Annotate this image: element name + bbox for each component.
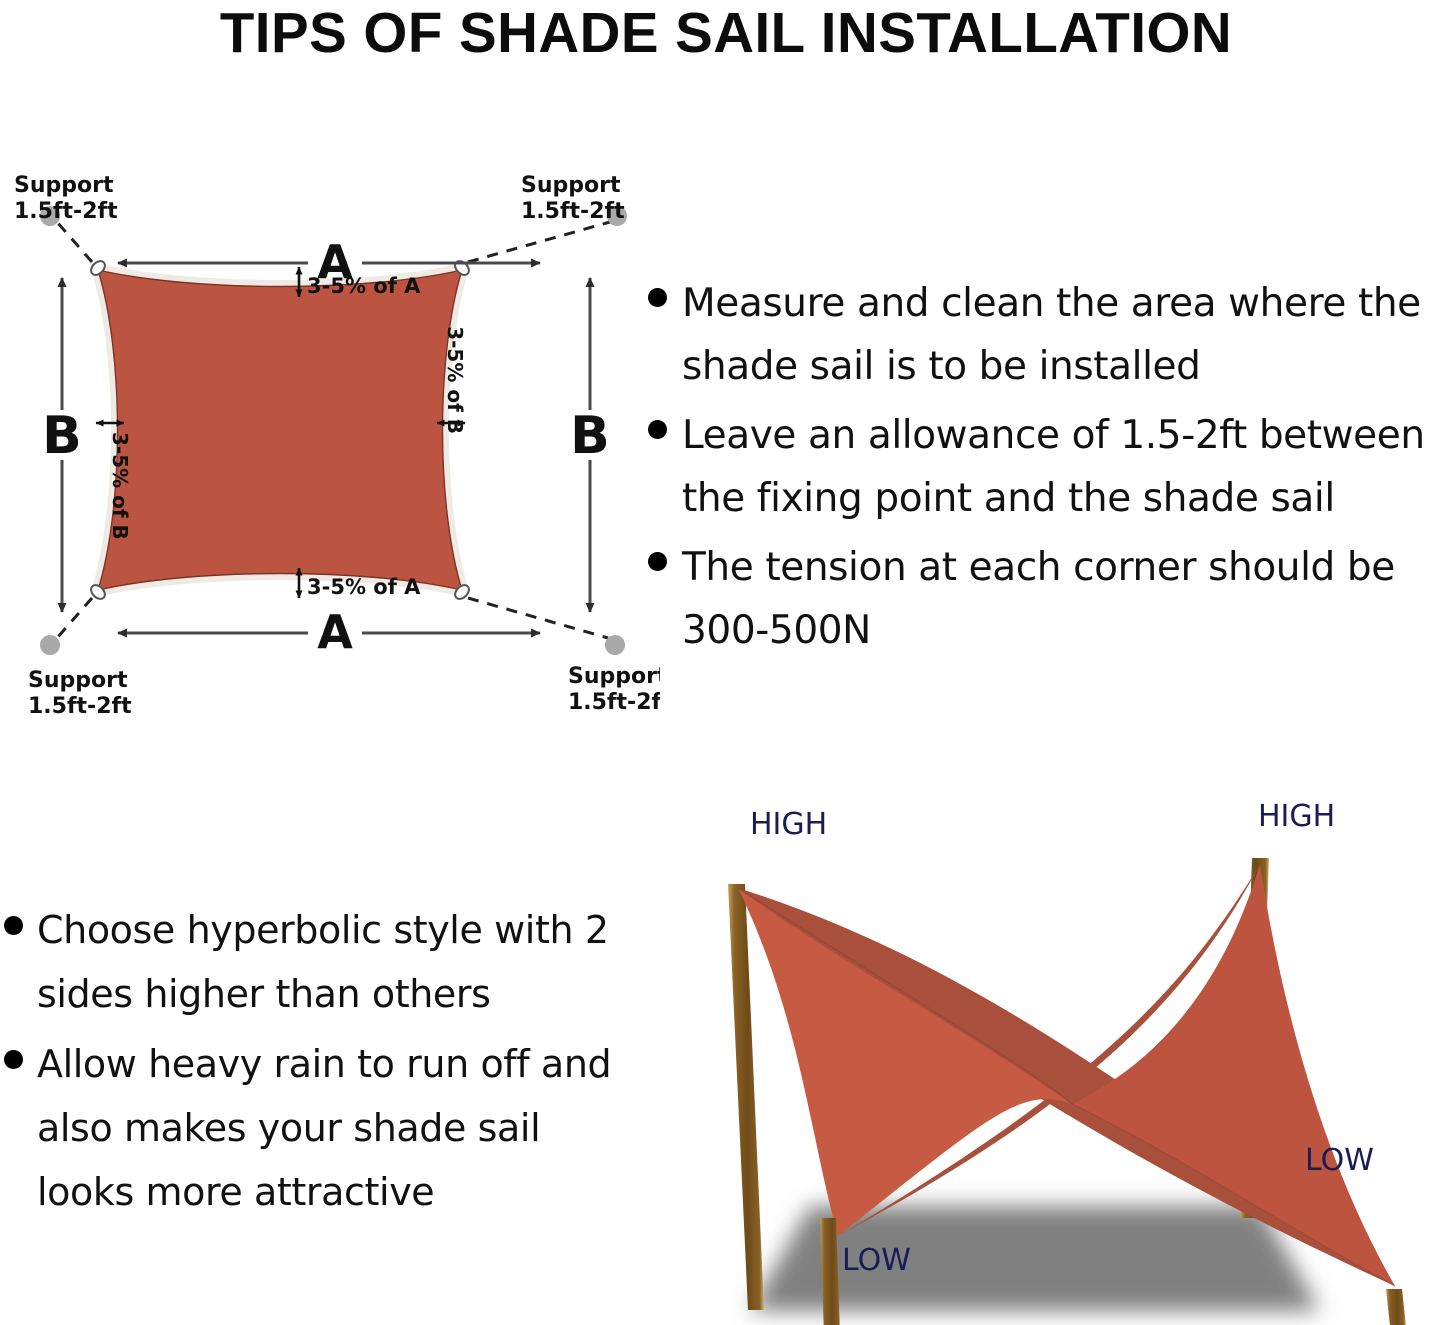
support-label-bottom-right-line1: Support bbox=[568, 664, 660, 689]
bullet-icon bbox=[648, 552, 667, 571]
list-item: Allow heavy rain to run off and also mak… bbox=[4, 1032, 624, 1224]
list-item: Measure and clean the area where the sha… bbox=[648, 272, 1452, 398]
curve-note-a-bottom-label: 3-5% of A bbox=[307, 575, 421, 599]
support-label-top-right-line2: 1.5ft-2ft bbox=[521, 199, 625, 224]
list-item: The tension at each corner should be 300… bbox=[648, 536, 1452, 662]
curve-note-b-left-label: 3-5% of B bbox=[108, 432, 132, 540]
bullet-icon bbox=[4, 1050, 23, 1069]
curve-note-b-left: 3-5% of B bbox=[96, 423, 132, 540]
curve-note-b-right-label: 3-5% of B bbox=[443, 326, 467, 434]
support-label-bottom-left-line2: 1.5ft-2ft bbox=[28, 694, 132, 719]
rectangular-sail-diagram: Support 1.5ft-2ft Support 1.5ft-2ft Supp… bbox=[0, 160, 660, 740]
installation-tips-list: Measure and clean the area where the sha… bbox=[648, 272, 1452, 668]
dimension-b-right-label: B bbox=[570, 406, 610, 466]
bullet-icon bbox=[4, 916, 23, 935]
dimension-a-bottom: A bbox=[118, 605, 540, 659]
support-post-front-right bbox=[1386, 1289, 1406, 1325]
support-label-top-left-line2: 1.5ft-2ft bbox=[14, 199, 118, 224]
dimension-a-bottom-label: A bbox=[317, 605, 353, 659]
label-low-left: LOW bbox=[842, 1243, 911, 1278]
list-item: Choose hyperbolic style with 2 sides hig… bbox=[4, 898, 624, 1026]
support-label-bottom-right-line2: 1.5ft-2ft bbox=[568, 690, 660, 715]
list-item: Leave an allowance of 1.5-2ft between th… bbox=[648, 404, 1452, 530]
dimension-b-left-label: B bbox=[42, 406, 82, 466]
dimension-b-right: B bbox=[570, 278, 610, 612]
support-label-bottom-left-line1: Support bbox=[28, 668, 128, 693]
tip-text: Leave an allowance of 1.5-2ft between th… bbox=[682, 404, 1452, 530]
bullet-icon bbox=[648, 288, 667, 307]
hyperbolic-style-tips-list: Choose hyperbolic style with 2 sides hig… bbox=[4, 898, 624, 1230]
sail-shape bbox=[98, 270, 462, 590]
bullet-icon bbox=[648, 420, 667, 439]
dimension-b-left: B bbox=[42, 278, 82, 612]
label-high-right: HIGH bbox=[1258, 799, 1335, 834]
curve-note-a-top-label: 3-5% of A bbox=[307, 274, 421, 298]
support-label-top-left-line1: Support bbox=[14, 173, 114, 198]
label-low-right-overlay: LOW bbox=[1305, 1143, 1374, 1178]
tip-text: The tension at each corner should be 300… bbox=[682, 536, 1452, 662]
tip-text: Allow heavy rain to run off and also mak… bbox=[37, 1032, 624, 1224]
hyperbolic-sail-diagram: HIGH HIGH LOW LOW bbox=[660, 786, 1452, 1325]
support-post-back-left bbox=[728, 884, 764, 1310]
tip-text: Choose hyperbolic style with 2 sides hig… bbox=[37, 898, 624, 1026]
label-high-left: HIGH bbox=[750, 807, 827, 842]
page-title: TIPS OF SHADE SAIL INSTALLATION bbox=[7, 2, 1444, 64]
support-label-top-right-line1: Support bbox=[521, 173, 621, 198]
tip-text: Measure and clean the area where the sha… bbox=[682, 272, 1452, 398]
